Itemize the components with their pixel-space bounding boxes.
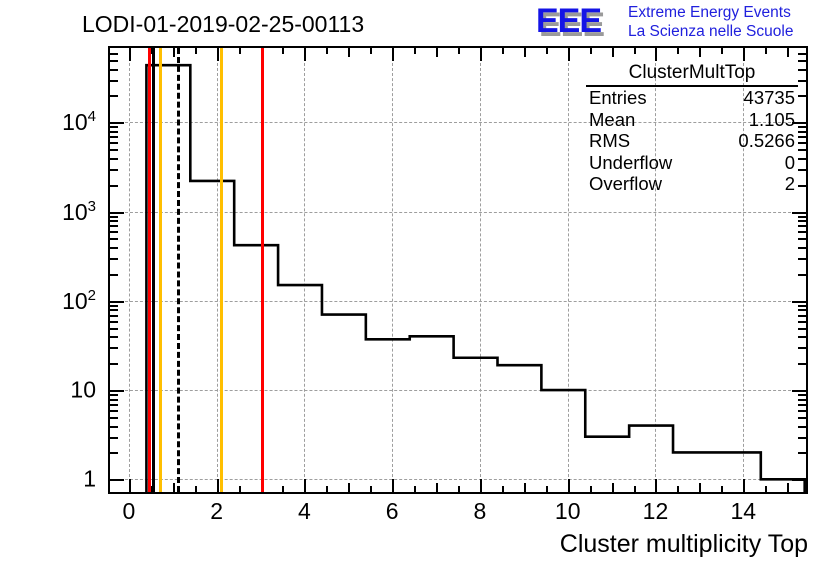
page-title: LODI-01-2019-02-25-00113 — [82, 11, 364, 38]
stats-box: ClusterMultTop Entries43735Mean1.105RMS0… — [586, 62, 798, 195]
x-axis-label: 10 — [555, 498, 581, 525]
red-line-right — [261, 48, 264, 492]
black-dashed-line — [177, 48, 180, 492]
stats-value: 0.5266 — [738, 130, 795, 152]
x-axis-label: 14 — [730, 498, 756, 525]
stats-row: Underflow0 — [586, 152, 798, 174]
stats-key: RMS — [589, 130, 630, 152]
y-axis-label: 1 — [0, 466, 96, 493]
red-line-left — [148, 48, 151, 492]
x-axis-label: 8 — [474, 498, 487, 525]
stats-key: Underflow — [589, 152, 672, 174]
eee-logo-mark: EEE — [536, 4, 601, 38]
stats-rows: Entries43735Mean1.105RMS0.5266Underflow0… — [586, 87, 798, 195]
stats-row: Mean1.105 — [586, 109, 798, 131]
orange-line-left — [159, 48, 162, 492]
stats-value: 0 — [785, 152, 795, 174]
x-axis-label: 6 — [386, 498, 399, 525]
x-axis-label: 2 — [210, 498, 223, 525]
stats-key: Entries — [589, 87, 647, 109]
stats-key: Mean — [589, 109, 635, 131]
stats-value: 43735 — [744, 87, 795, 109]
x-axis-label: 12 — [643, 498, 669, 525]
stats-value: 1.105 — [749, 109, 795, 131]
stats-row: RMS0.5266 — [586, 130, 798, 152]
stats-row: Entries43735 — [586, 87, 798, 109]
stats-value: 2 — [785, 173, 795, 195]
y-axis-label: 104 — [0, 108, 96, 136]
eee-logo: EEE Extreme Energy Events La Scienza nel… — [536, 2, 836, 44]
y-axis-label: 10 — [0, 377, 96, 404]
x-axis-label: 0 — [122, 498, 135, 525]
stats-row: Overflow2 — [586, 173, 798, 195]
y-axis-label: 102 — [0, 287, 96, 315]
x-axis-label: 4 — [298, 498, 311, 525]
stats-key: Overflow — [589, 173, 662, 195]
x-axis-title: Cluster multiplicity Top — [560, 530, 808, 559]
black-solid-line — [152, 48, 155, 492]
eee-logo-line1: Extreme Energy Events — [628, 4, 791, 22]
y-axis-label: 103 — [0, 198, 96, 226]
stats-title: ClusterMultTop — [586, 62, 798, 87]
histogram-canvas: LODI-01-2019-02-25-00113 EEE Extreme Ene… — [0, 0, 836, 572]
eee-logo-line2: La Scienza nelle Scuole — [628, 23, 793, 41]
orange-line-right — [220, 48, 223, 492]
